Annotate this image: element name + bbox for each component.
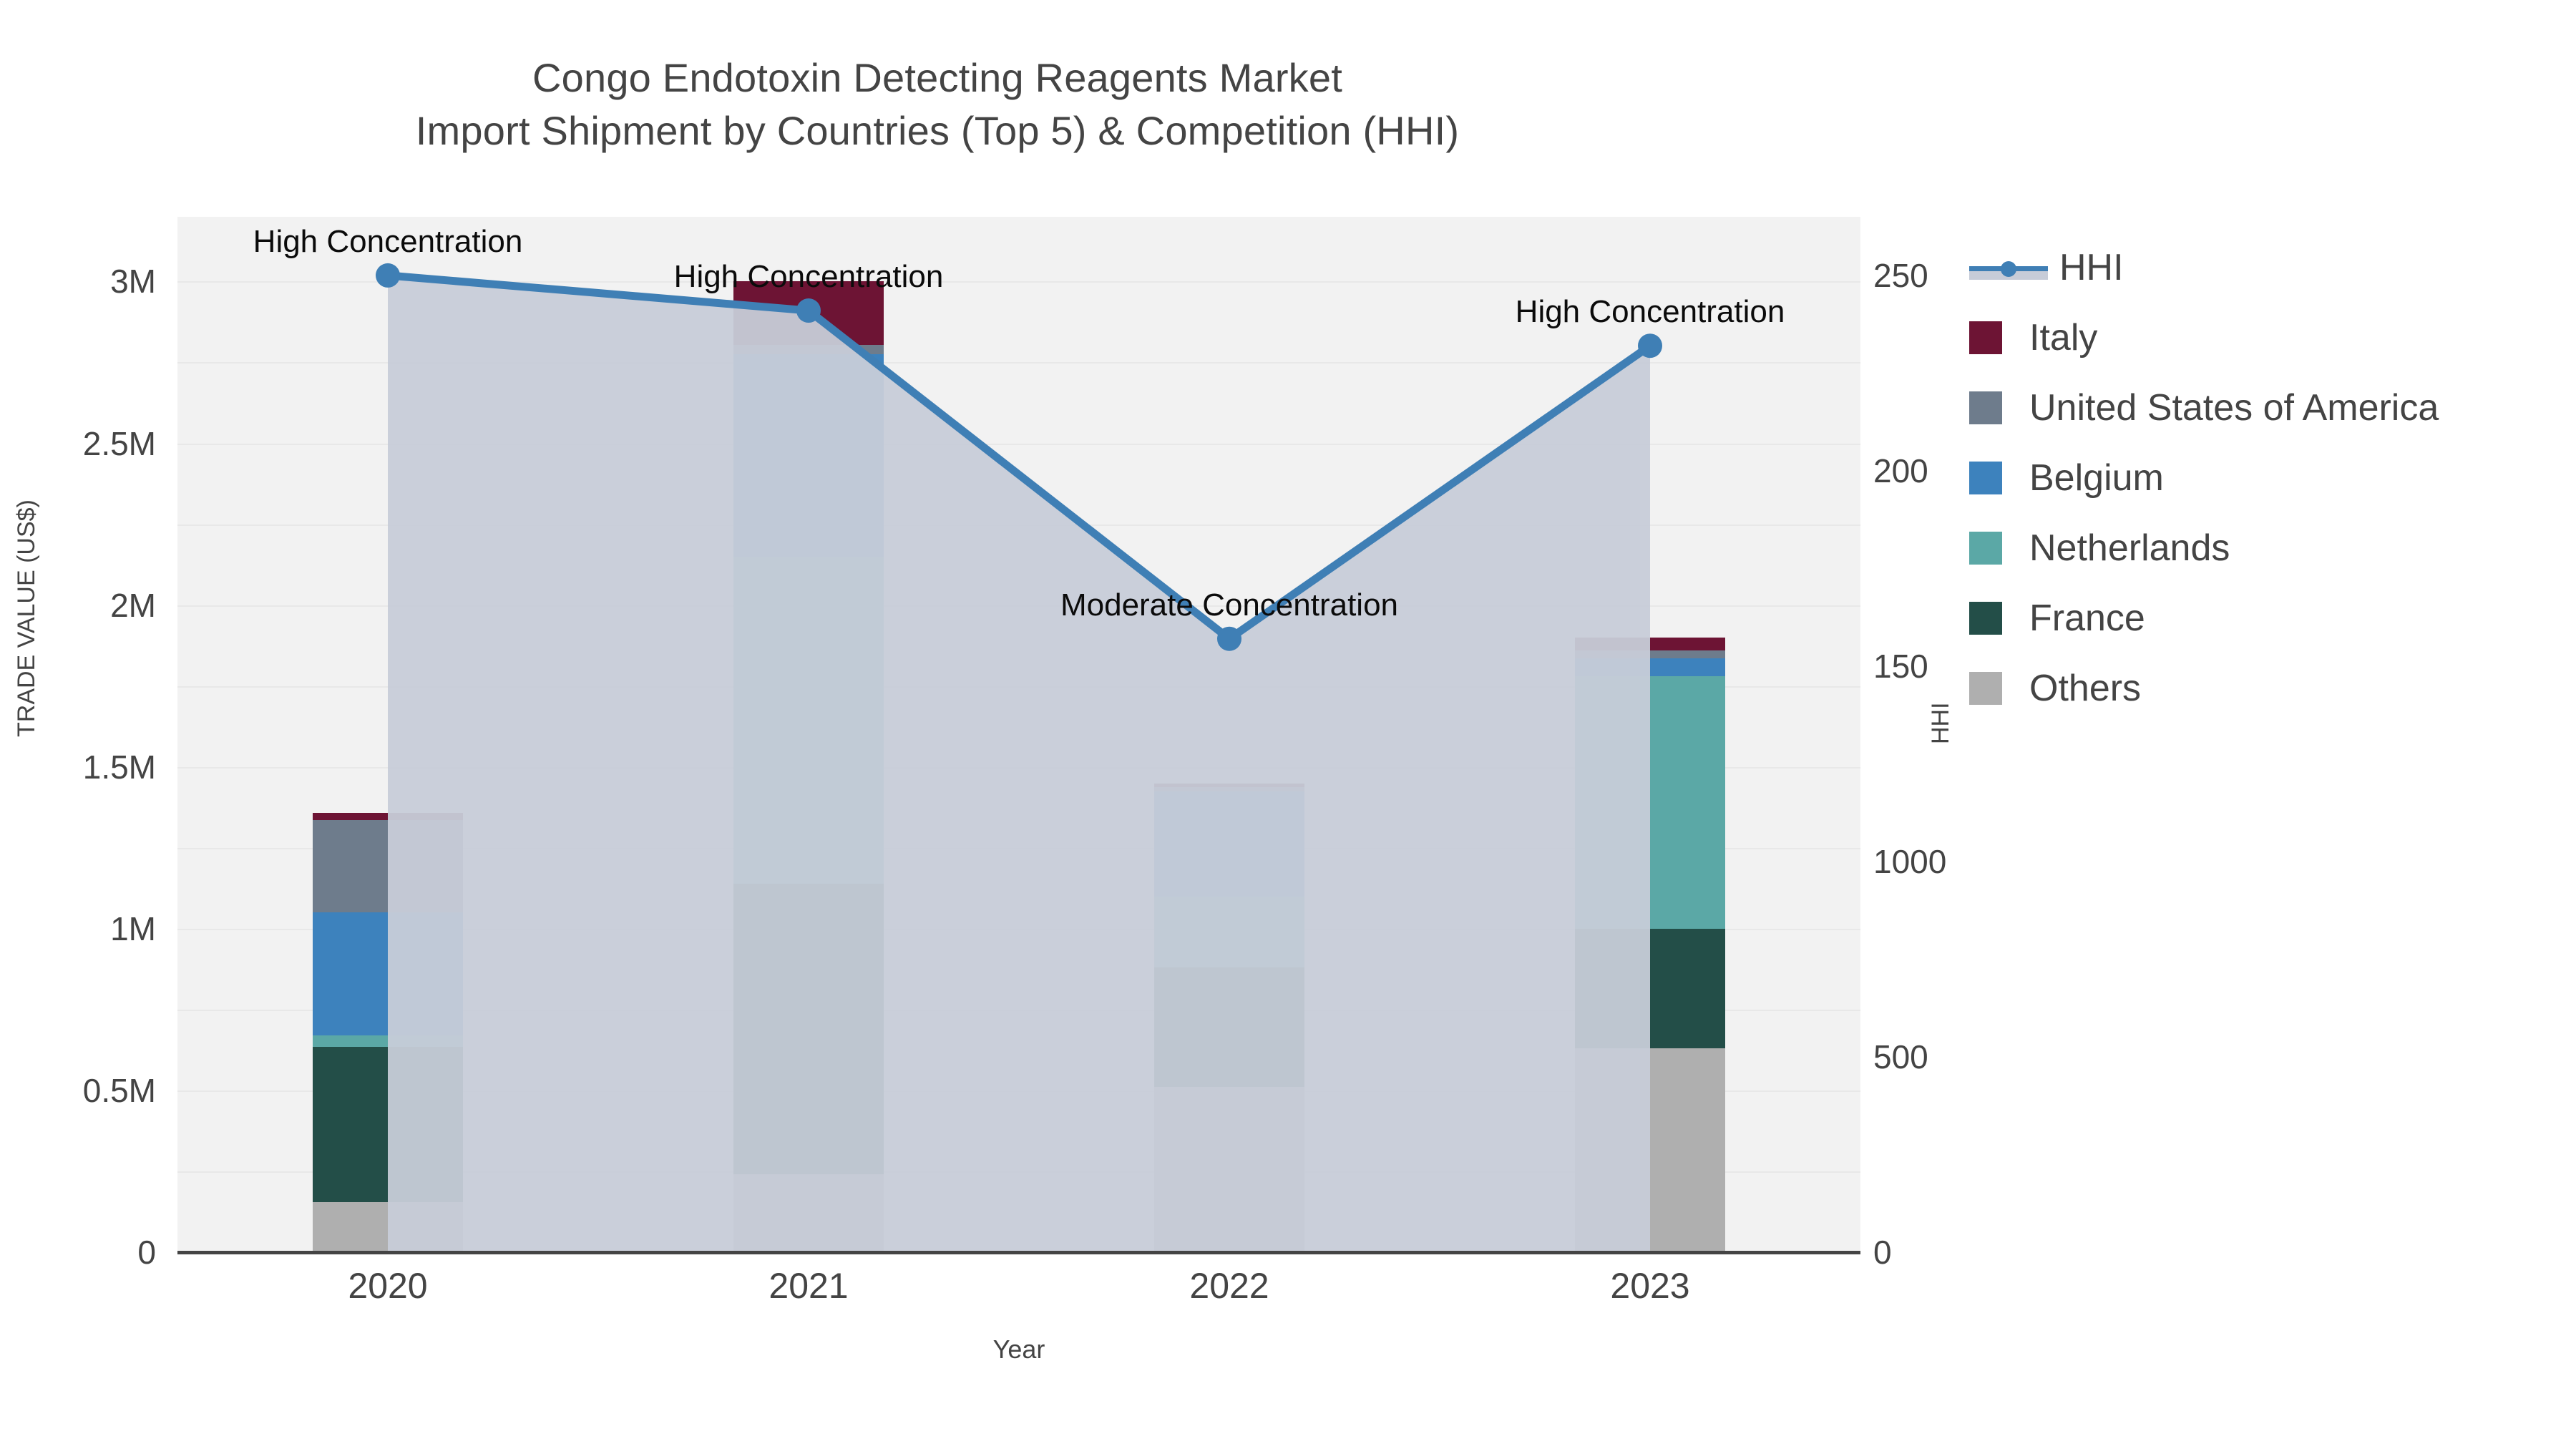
y-axis-right-title: HHI xyxy=(1927,702,1955,744)
x-axis-title: Year xyxy=(0,1335,2038,1365)
legend-color-swatch-icon xyxy=(1969,391,2002,424)
legend-color-swatch-icon xyxy=(1969,672,2002,705)
legend-color-swatch-icon xyxy=(1969,602,2002,635)
y-axis-left-tick: 0 xyxy=(137,1233,156,1272)
chart-title: Congo Endotoxin Detecting Reagents Marke… xyxy=(0,52,1875,158)
chart-title-line-1: Congo Endotoxin Detecting Reagents Marke… xyxy=(0,52,1875,104)
y-axis-right-tick: 0 xyxy=(1873,1233,1892,1272)
legend-color-swatch-icon xyxy=(1969,321,2002,354)
y-axis-left-tick: 1.5M xyxy=(83,748,156,786)
plot-area xyxy=(177,217,1860,1252)
legend-line-icon xyxy=(1969,251,2048,284)
legend-item-label: United States of America xyxy=(2029,386,2439,429)
legend-item-label: Netherlands xyxy=(2029,527,2230,570)
legend-item-label: Others xyxy=(2029,667,2141,710)
x-axis-tick-2020: 2020 xyxy=(348,1265,427,1307)
x-axis-tick-2021: 2021 xyxy=(769,1265,848,1307)
y-axis-left-tick: 0.5M xyxy=(83,1071,156,1110)
legend-item-label: France xyxy=(2029,597,2145,640)
y-axis-left-tick: 3M xyxy=(110,262,156,301)
legend-item-others[interactable]: Others xyxy=(1969,653,2563,723)
legend-item-label: Italy xyxy=(2029,316,2097,359)
legend-item-united-states-of-america[interactable]: United States of America xyxy=(1969,373,2563,443)
hhi-marker-2021[interactable] xyxy=(796,298,821,323)
chart-title-line-2: Import Shipment by Countries (Top 5) & C… xyxy=(0,104,1875,157)
annotation-2023: High Concentration xyxy=(1516,294,1785,330)
y-axis-right-tick: 500 xyxy=(1873,1038,1928,1076)
hhi-marker-2020[interactable] xyxy=(376,263,400,288)
legend-color-swatch-icon xyxy=(1969,462,2002,494)
legend-item-label: Belgium xyxy=(2029,457,2164,499)
legend-color-swatch-icon xyxy=(1969,532,2002,565)
annotation-2022: Moderate Concentration xyxy=(1060,587,1398,623)
y-axis-left-tick: 1M xyxy=(110,909,156,948)
legend-item-belgium[interactable]: Belgium xyxy=(1969,443,2563,513)
hhi-marker-2022[interactable] xyxy=(1217,627,1241,651)
hhi-line-series xyxy=(177,217,1860,1252)
annotation-2020: High Concentration xyxy=(253,224,523,260)
y-axis-right-tick: 1000 xyxy=(1873,842,1946,881)
y-axis-left-tick: 2M xyxy=(110,586,156,625)
y-axis-left-title: TRADE VALUE (US$) xyxy=(13,499,41,737)
legend-item-italy[interactable]: Italy xyxy=(1969,303,2563,373)
y-axis-right-tick: 200 xyxy=(1873,452,1928,490)
legend-item-hhi[interactable]: HHI xyxy=(1969,233,2563,303)
legend: HHIItalyUnited States of AmericaBelgiumN… xyxy=(1969,233,2563,723)
y-axis-left-tick: 2.5M xyxy=(83,424,156,463)
hhi-area-fill xyxy=(388,275,1650,1252)
y-axis-right-tick: 150 xyxy=(1873,647,1928,686)
legend-item-france[interactable]: France xyxy=(1969,583,2563,653)
x-axis-tick-2022: 2022 xyxy=(1189,1265,1269,1307)
x-axis-tick-2023: 2023 xyxy=(1610,1265,1689,1307)
x-axis-line xyxy=(177,1251,1860,1254)
y-axis-right-tick: 250 xyxy=(1873,256,1928,295)
annotation-2021: High Concentration xyxy=(674,259,944,295)
legend-item-label: HHI xyxy=(2059,246,2124,289)
legend-item-netherlands[interactable]: Netherlands xyxy=(1969,513,2563,583)
legend-marker-dot-icon xyxy=(2001,261,2016,277)
hhi-marker-2023[interactable] xyxy=(1638,333,1662,358)
